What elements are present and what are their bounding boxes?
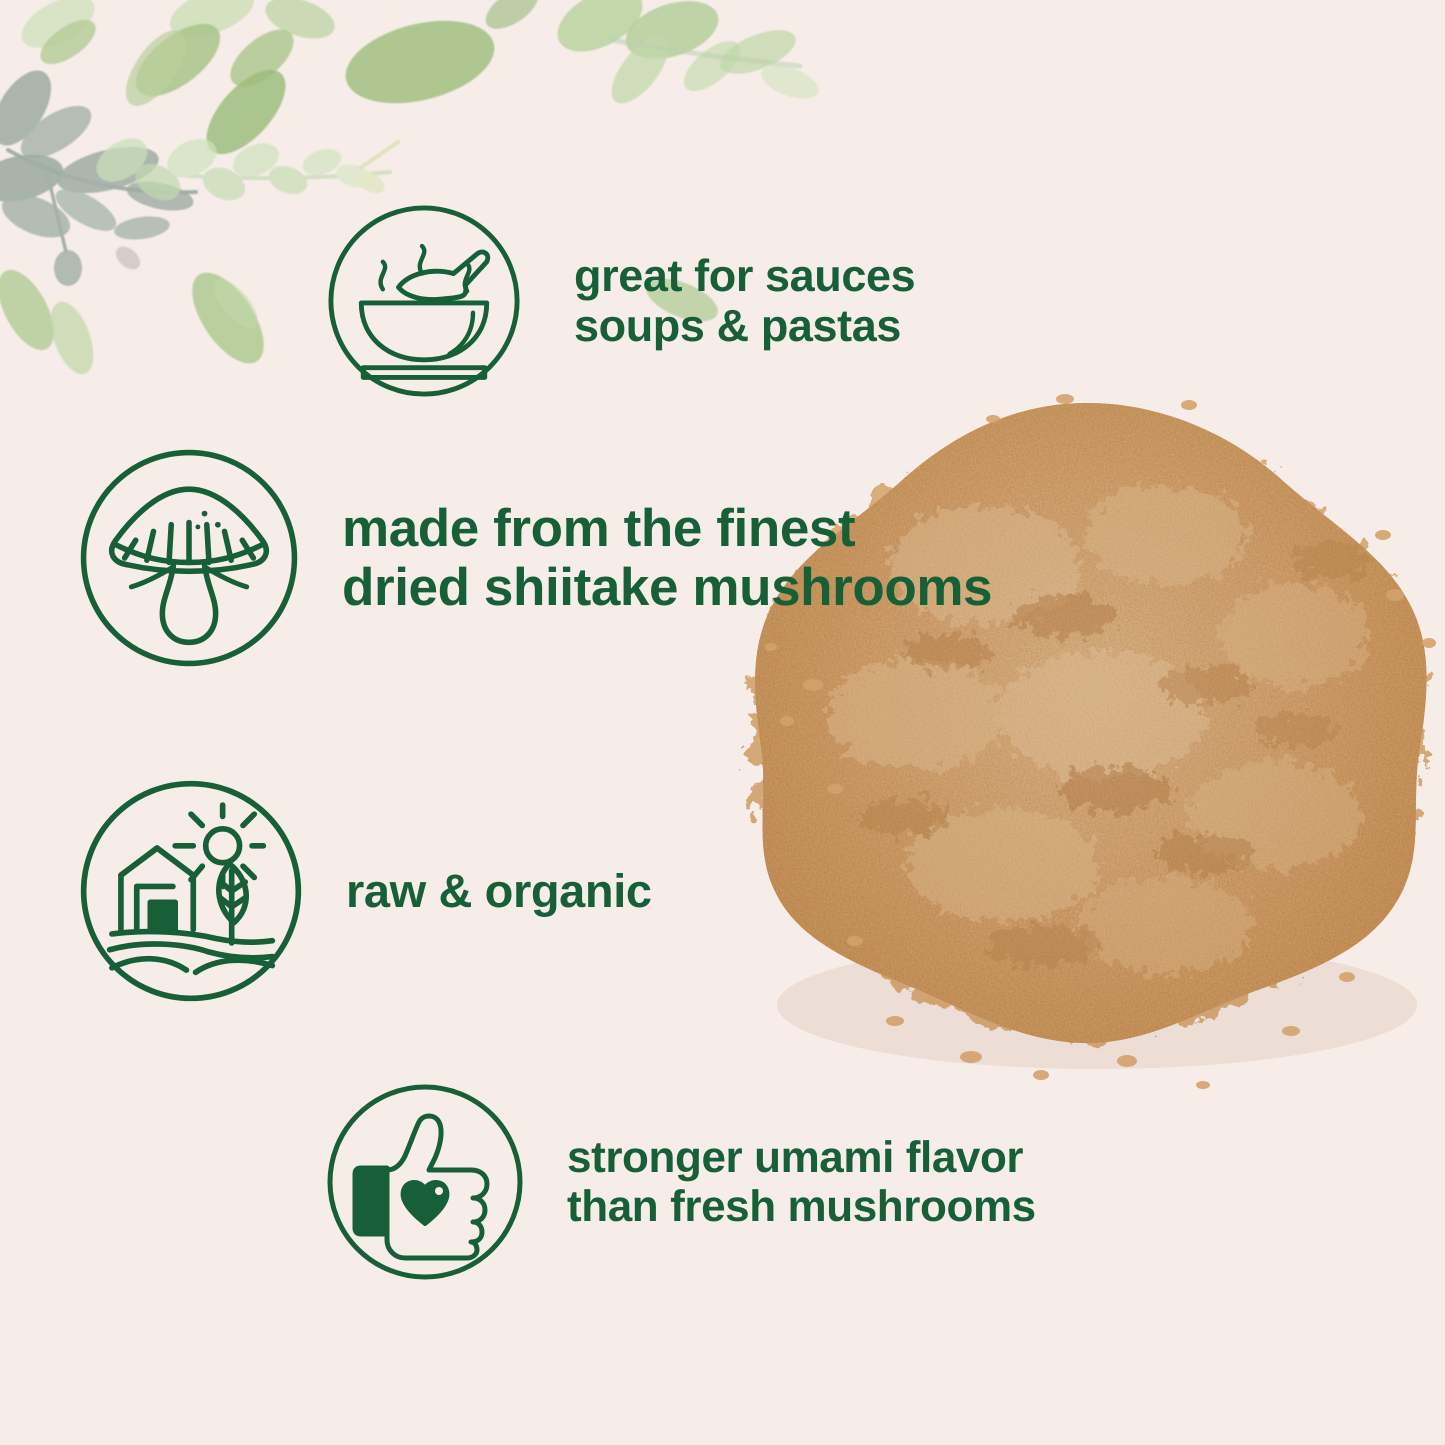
mushroom-icon <box>78 447 300 669</box>
feature-row-finest: made from the finest dried shiitake mush… <box>78 447 992 669</box>
infographic-canvas: great for sauces soups & pastas <box>0 0 1445 1445</box>
feature-label-sauces: great for sauces soups & pastas <box>574 251 915 352</box>
feature-label-organic: raw & organic <box>346 865 652 918</box>
feature-label-umami: stronger umami flavor than fresh mushroo… <box>567 1133 1036 1232</box>
feature-row-umami: stronger umami flavor than fresh mushroo… <box>325 1082 1036 1282</box>
thumbs-up-heart-icon <box>325 1082 525 1282</box>
feature-row-organic: raw & organic <box>78 778 652 1004</box>
feature-row-sauces: great for sauces soups & pastas <box>326 203 915 399</box>
bowl-spoon-icon <box>326 203 522 399</box>
feature-label-finest: made from the finest dried shiitake mush… <box>342 499 992 618</box>
farm-sun-leaf-icon <box>78 778 304 1004</box>
